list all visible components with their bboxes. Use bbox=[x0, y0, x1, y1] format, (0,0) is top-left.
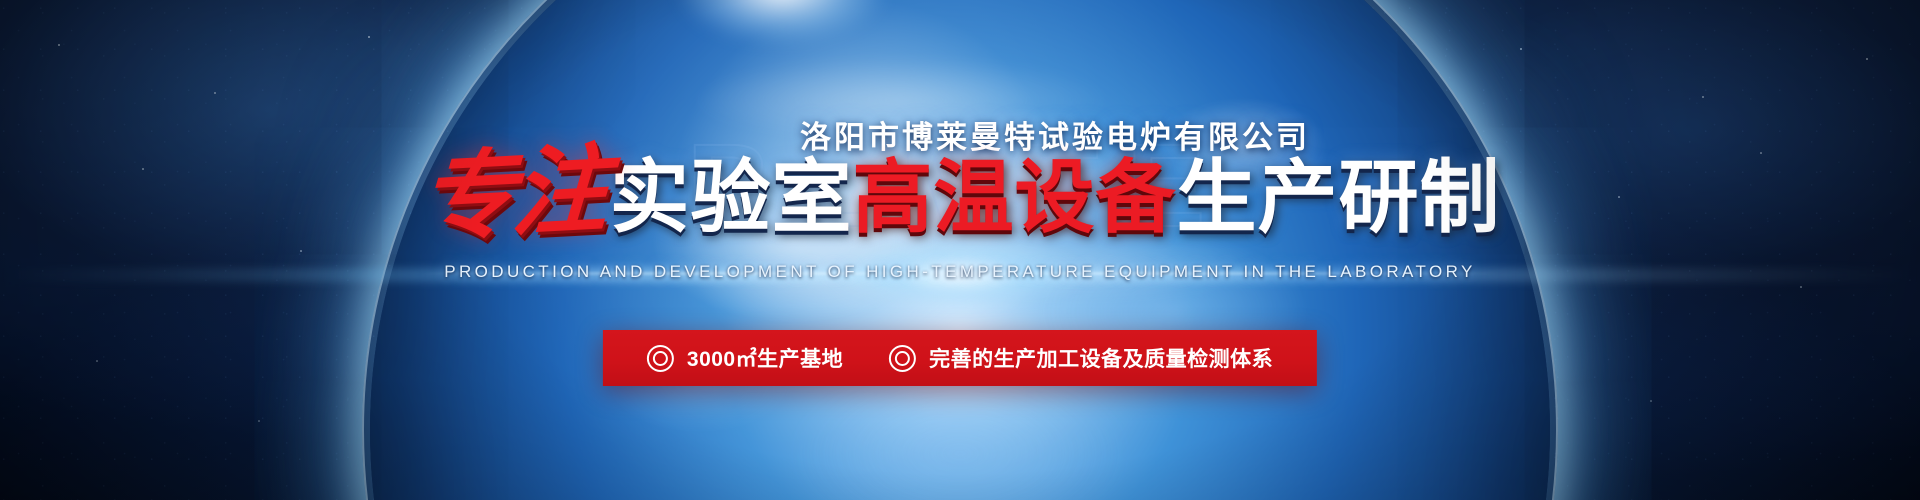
feature-item: 完善的生产加工设备及质量检测体系 bbox=[889, 343, 1273, 373]
subtitle-english: PRODUCTION AND DEVELOPMENT OF HIGH-TEMPE… bbox=[0, 262, 1920, 282]
feature-label: 3000㎡生产基地 bbox=[687, 343, 843, 373]
double-circle-bullet-icon bbox=[889, 345, 916, 372]
feature-item: 3000㎡生产基地 bbox=[647, 343, 843, 373]
headline-part-production-development: 生产研制 bbox=[1177, 158, 1501, 238]
headline-part-high-temp-equipment: 高温设备 bbox=[853, 158, 1177, 238]
banner-content: 洛阳市博莱曼特试验电炉有限公司 专注实验室高温设备生产研制 PRODUCTION… bbox=[0, 0, 1920, 500]
headline-part-focus: 专注 bbox=[417, 141, 606, 247]
headline: 专注实验室高温设备生产研制 bbox=[0, 150, 1920, 246]
feature-label: 完善的生产加工设备及质量检测体系 bbox=[929, 343, 1273, 373]
headline-part-laboratory: 实验室 bbox=[610, 158, 853, 238]
feature-bar: 3000㎡生产基地 完善的生产加工设备及质量检测体系 bbox=[603, 330, 1317, 386]
hero-banner: BLMTE 洛阳市博莱曼特试验电炉有限公司 专注实验室高温设备生产研制 PROD… bbox=[0, 0, 1920, 500]
double-circle-bullet-icon bbox=[647, 345, 674, 372]
